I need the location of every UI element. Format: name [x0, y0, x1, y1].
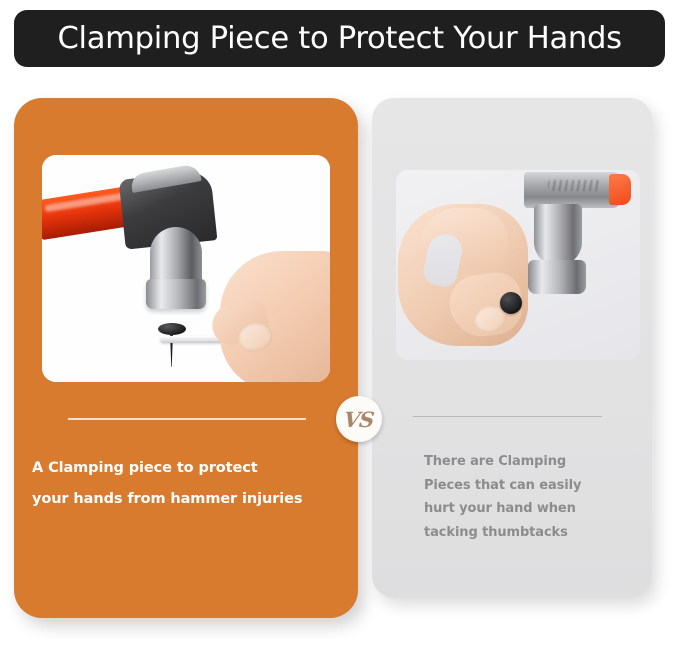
vs-badge-label: VS: [343, 407, 375, 432]
thumbtack-head-shape: [500, 292, 522, 314]
con-card-photo: [396, 170, 640, 360]
pro-caption-line: your hands from hammer injuries: [32, 484, 352, 515]
hammer-face-shape: [146, 279, 206, 309]
vs-badge: VS: [336, 396, 382, 442]
hammer-orange-tip-shape: [609, 174, 631, 205]
pro-card-divider: [68, 418, 306, 420]
pro-card-photo: [42, 155, 330, 382]
pro-card-caption: A Clamping piece to protect your hands f…: [32, 453, 352, 515]
con-caption-line: There are Clamping: [424, 450, 639, 474]
pro-card: A Clamping piece to protect your hands f…: [14, 98, 358, 618]
hammer-face-shape: [528, 260, 586, 294]
hammer-engraving-shape: [548, 180, 600, 191]
con-card-divider: [413, 416, 602, 417]
pro-caption-line: A Clamping piece to protect: [32, 453, 352, 484]
con-card-caption: There are Clamping Pieces that can easil…: [424, 450, 639, 544]
comparison-section: A Clamping piece to protect your hands f…: [0, 0, 679, 652]
hand-thumbtack-hammer-illustration: [396, 170, 640, 360]
con-caption-line: hurt your hand when: [424, 497, 639, 521]
hammer-clamping-tool-illustration: [42, 155, 330, 382]
con-caption-line: Pieces that can easily: [424, 474, 639, 498]
con-card: There are Clamping Pieces that can easil…: [372, 98, 652, 598]
con-caption-line: tacking thumbtacks: [424, 521, 639, 545]
hammer-neck-shape: [534, 204, 582, 266]
